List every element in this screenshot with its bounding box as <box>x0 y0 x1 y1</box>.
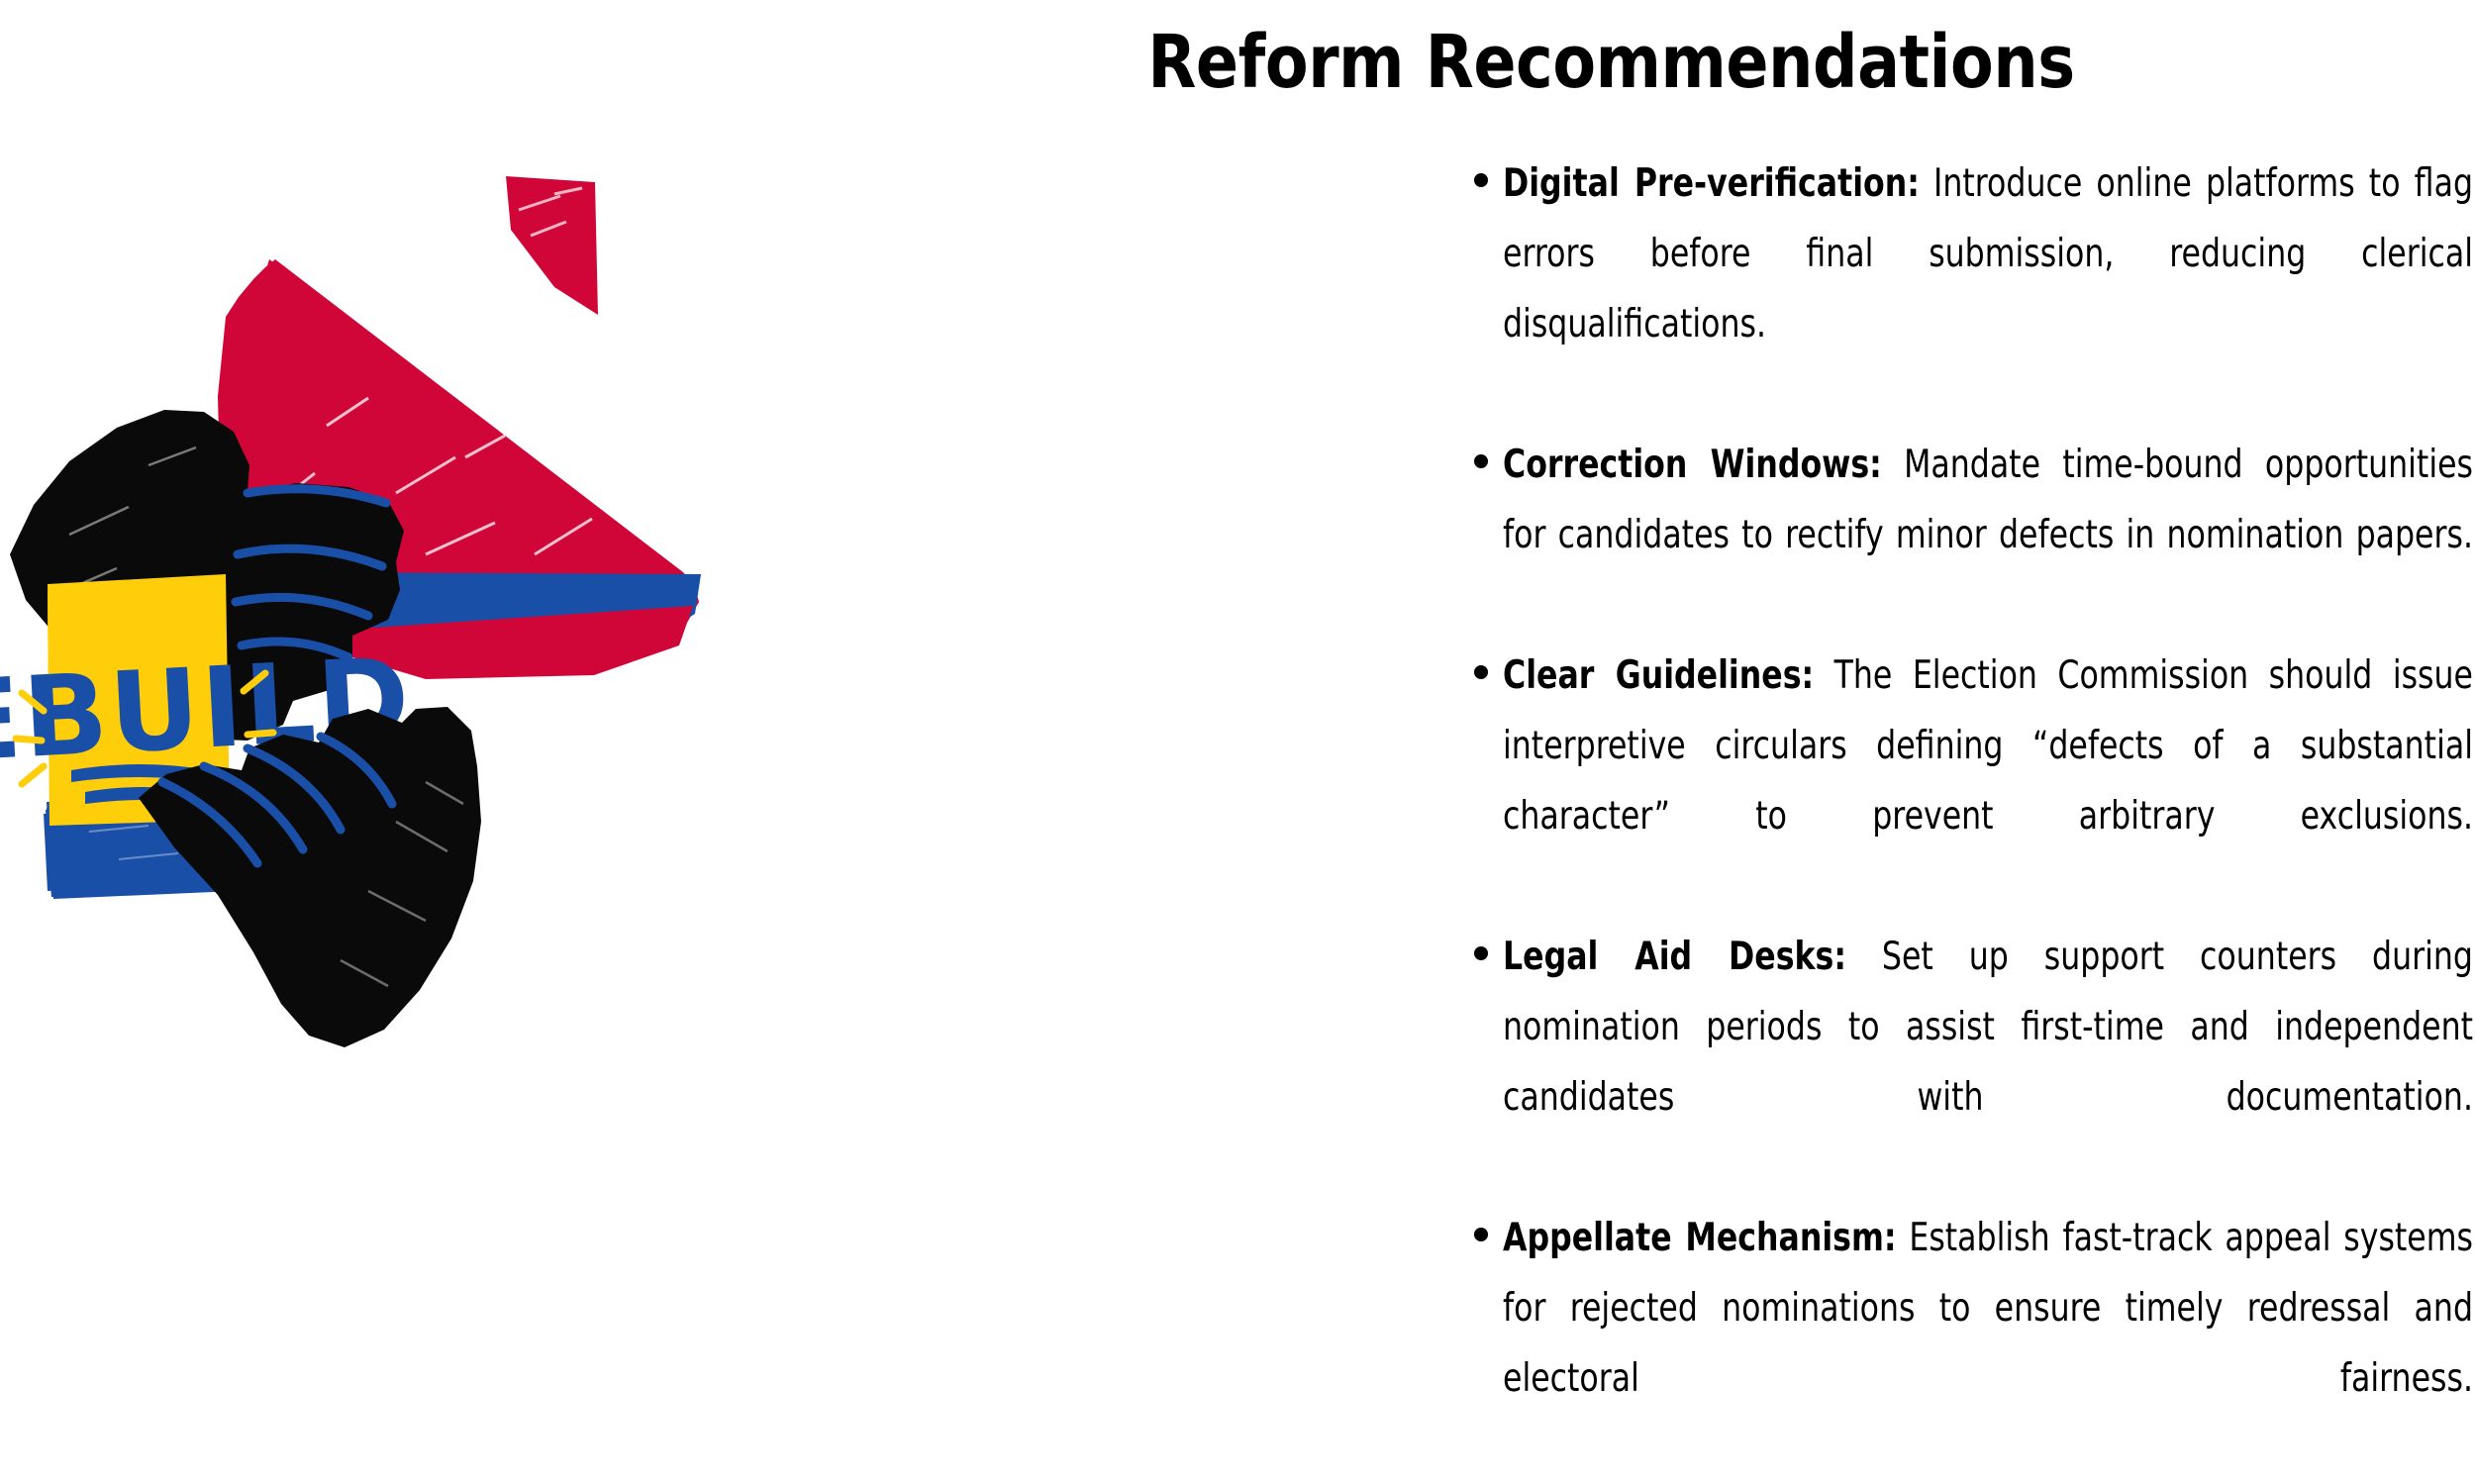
list-item-text: Legal Aid Desks: Set up support counters… <box>1503 922 2473 1203</box>
bullet-icon <box>1474 454 1488 468</box>
chimney-red-shape <box>506 176 598 315</box>
list-item: Clear Guidelines: The Election Commissio… <box>1470 641 2475 922</box>
list-item: Digital Pre-verification: Introduce onli… <box>1470 148 2475 430</box>
list-item-term: Correction Windows: <box>1503 442 1882 487</box>
page-title: Reform Recommendations <box>898 26 2325 99</box>
list-item-text: Clear Guidelines: The Election Commissio… <box>1503 641 2473 922</box>
bullet-icon <box>1474 1228 1488 1241</box>
illustration-panel: REBUILD <box>0 0 782 1237</box>
bullet-icon <box>1474 173 1488 187</box>
list-item-term: Appellate Mechanism: <box>1503 1215 1897 1260</box>
rebuild-sign-illustration: REBUILD <box>0 0 782 1237</box>
bullet-icon <box>1474 946 1488 960</box>
list-item: Appellate Mechanism: Establish fast-trac… <box>1470 1203 2475 1484</box>
list-item-term: Digital Pre-verification: <box>1503 160 1920 206</box>
list-item: Legal Aid Desks: Set up support counters… <box>1470 922 2475 1203</box>
bullet-icon <box>1474 665 1488 679</box>
slide-root: REBUILD <box>0 0 2475 1237</box>
list-item-text: Appellate Mechanism: Establish fast-trac… <box>1503 1203 2473 1484</box>
recommendation-list: Digital Pre-verification: Introduce onli… <box>782 148 2465 1484</box>
list-item-term: Clear Guidelines: <box>1503 652 1814 698</box>
list-item-text: Digital Pre-verification: Introduce onli… <box>1503 148 2473 430</box>
list-item: Correction Windows: Mandate time-bound o… <box>1470 430 2475 641</box>
content-panel: Reform Recommendations Digital Pre-verif… <box>782 0 2475 1237</box>
list-item-term: Legal Aid Desks: <box>1503 934 1846 979</box>
list-item-text: Correction Windows: Mandate time-bound o… <box>1503 430 2473 641</box>
